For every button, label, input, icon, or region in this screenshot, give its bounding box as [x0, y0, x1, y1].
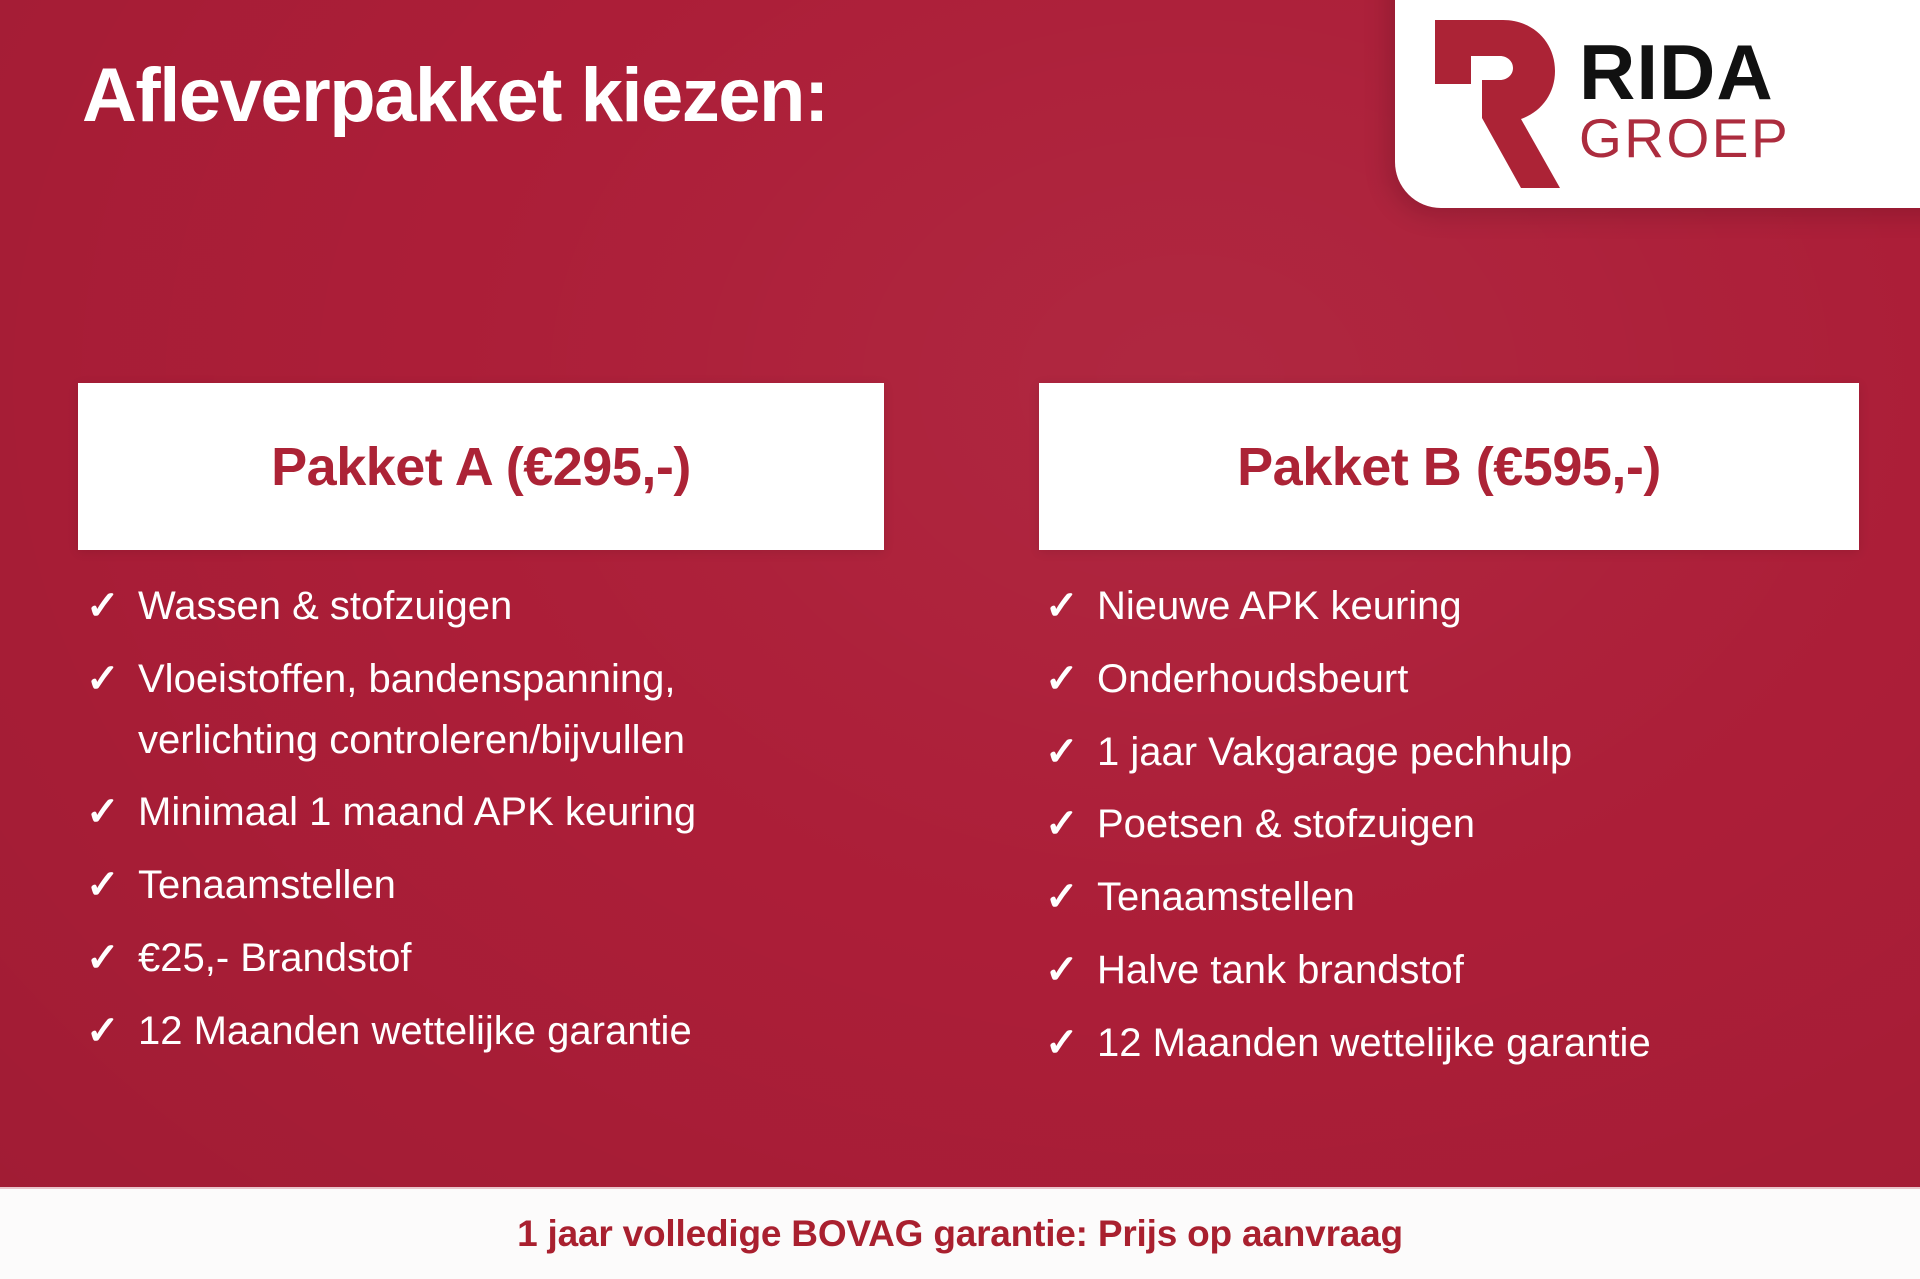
- feature-item: ✓Tenaamstellen: [1045, 867, 1859, 928]
- check-icon: ✓: [86, 1001, 138, 1062]
- check-icon: ✓: [86, 855, 138, 916]
- package-b-feature-list: ✓Nieuwe APK keuring✓Onderhoudsbeurt✓1 ja…: [1039, 550, 1859, 1074]
- feature-text: Vloeistoffen, bandenspanning, verlichtin…: [138, 649, 884, 771]
- feature-item: ✓Tenaamstellen: [86, 855, 884, 916]
- feature-text: 12 Maanden wettelijke garantie: [1097, 1013, 1859, 1074]
- feature-item: ✓Poetsen & stofzuigen: [1045, 794, 1859, 855]
- logo-primary-word: RIDA: [1579, 37, 1774, 109]
- check-icon: ✓: [86, 576, 138, 637]
- feature-text: 12 Maanden wettelijke garantie: [138, 1001, 884, 1062]
- package-b-title: Pakket B (€595,-): [1237, 436, 1661, 498]
- feature-text: €25,- Brandstof: [138, 928, 884, 989]
- check-icon: ✓: [1045, 649, 1097, 710]
- afleverpakket-poster: Afleverpakket kiezen: RIDA GROEP Pakket …: [0, 0, 1920, 1279]
- logo-wordmark: RIDA GROEP: [1579, 37, 1790, 171]
- rida-groep-logo-badge: RIDA GROEP: [1395, 0, 1920, 208]
- feature-item: ✓Halve tank brandstof: [1045, 940, 1859, 1001]
- feature-item: ✓Wassen & stofzuigen: [86, 576, 884, 637]
- feature-text: Minimaal 1 maand APK keuring: [138, 782, 884, 843]
- check-icon: ✓: [1045, 576, 1097, 637]
- feature-item: ✓Minimaal 1 maand APK keuring: [86, 782, 884, 843]
- logo-secondary-word: GROEP: [1579, 113, 1790, 164]
- logo-inner: RIDA GROEP: [1395, 0, 1920, 208]
- feature-text: Nieuwe APK keuring: [1097, 576, 1859, 637]
- check-icon: ✓: [1045, 722, 1097, 783]
- feature-text: Onderhoudsbeurt: [1097, 649, 1859, 710]
- check-icon: ✓: [86, 782, 138, 843]
- feature-item: ✓Vloeistoffen, bandenspanning, verlichti…: [86, 649, 884, 771]
- feature-text: Poetsen & stofzuigen: [1097, 794, 1859, 855]
- check-icon: ✓: [1045, 794, 1097, 855]
- feature-text: Halve tank brandstof: [1097, 940, 1859, 1001]
- feature-item: ✓12 Maanden wettelijke garantie: [1045, 1013, 1859, 1074]
- feature-item: ✓Nieuwe APK keuring: [1045, 576, 1859, 637]
- feature-text: 1 jaar Vakgarage pechhulp: [1097, 722, 1859, 783]
- check-icon: ✓: [1045, 1013, 1097, 1074]
- package-a-header: Pakket A (€295,-): [78, 383, 884, 550]
- package-b-header: Pakket B (€595,-): [1039, 383, 1859, 550]
- package-card-a[interactable]: Pakket A (€295,-) ✓Wassen & stofzuigen✓V…: [78, 383, 884, 1074]
- feature-item: ✓Onderhoudsbeurt: [1045, 649, 1859, 710]
- check-icon: ✓: [86, 928, 138, 989]
- rida-r-monogram-icon: [1429, 16, 1561, 192]
- feature-item: ✓12 Maanden wettelijke garantie: [86, 1001, 884, 1062]
- package-card-b[interactable]: Pakket B (€595,-) ✓Nieuwe APK keuring✓On…: [1039, 383, 1859, 1086]
- feature-text: Tenaamstellen: [1097, 867, 1859, 928]
- package-a-feature-list: ✓Wassen & stofzuigen✓Vloeistoffen, bande…: [78, 550, 884, 1062]
- feature-item: ✓1 jaar Vakgarage pechhulp: [1045, 722, 1859, 783]
- check-icon: ✓: [86, 649, 138, 710]
- package-a-title: Pakket A (€295,-): [271, 436, 691, 498]
- footer-guarantee-text: 1 jaar volledige BOVAG garantie: Prijs o…: [517, 1213, 1403, 1255]
- feature-text: Tenaamstellen: [138, 855, 884, 916]
- page-title: Afleverpakket kiezen:: [82, 58, 828, 134]
- check-icon: ✓: [1045, 867, 1097, 928]
- check-icon: ✓: [1045, 940, 1097, 1001]
- feature-text: Wassen & stofzuigen: [138, 576, 884, 637]
- footer-bar: 1 jaar volledige BOVAG garantie: Prijs o…: [0, 1187, 1920, 1279]
- feature-item: ✓€25,- Brandstof: [86, 928, 884, 989]
